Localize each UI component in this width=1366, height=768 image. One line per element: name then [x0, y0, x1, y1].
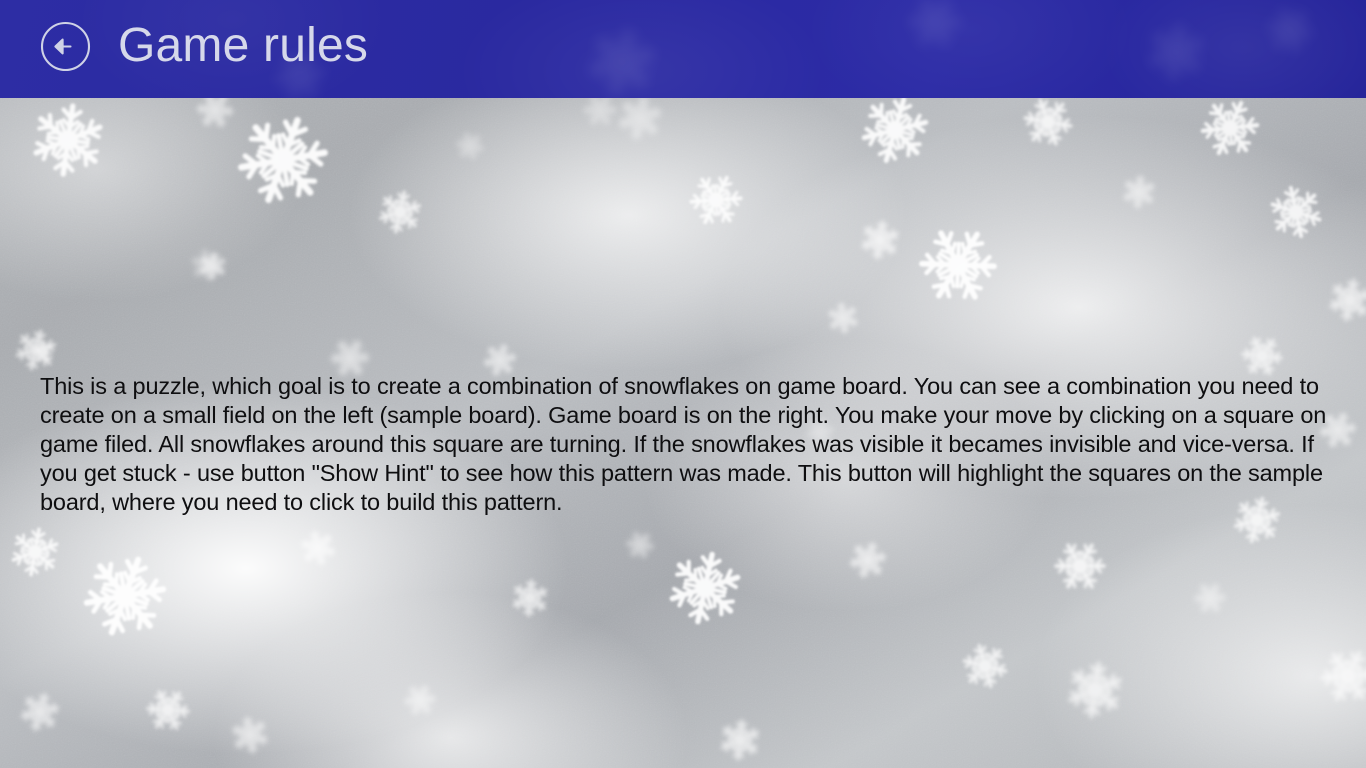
snowflake [577, 17, 667, 98]
back-arrow-circle-icon [38, 19, 93, 74]
game-rules-text: This is a puzzle, which goal is to creat… [40, 372, 1335, 517]
snowflake-icon [1255, 0, 1325, 65]
snowflake [895, 0, 975, 62]
app-header: Game rules [0, 0, 1366, 98]
app-root: Game rules This is a puzzle, which goal … [0, 0, 1366, 768]
page-title: Game rules [118, 8, 368, 84]
snowflake-icon [577, 17, 667, 98]
snowflake-icon [1141, 17, 1211, 87]
snowflake-icon [895, 0, 975, 62]
snowflake [1141, 17, 1211, 87]
back-button[interactable] [38, 19, 93, 74]
snowflake [1255, 0, 1325, 65]
